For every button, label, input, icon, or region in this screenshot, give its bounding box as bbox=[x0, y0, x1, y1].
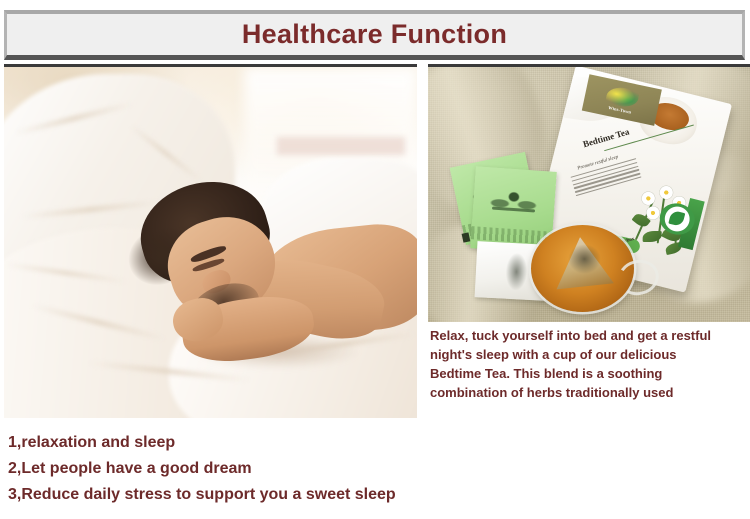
header-banner: Healthcare Function bbox=[4, 10, 745, 60]
sachet-emblem bbox=[487, 185, 541, 221]
sleeping-man-photo bbox=[4, 64, 417, 418]
page-title: Healthcare Function bbox=[242, 21, 507, 48]
bed-scene bbox=[4, 67, 417, 418]
window-sill bbox=[277, 137, 405, 155]
tea-scene: Wins-Town Bedtime Tea Promote restful sl… bbox=[428, 67, 750, 322]
description-line: combination of herbs traditionally used bbox=[430, 383, 746, 402]
benefit-item-2: 2,Let people have a good dream bbox=[8, 456, 608, 482]
box-product-title: Bedtime Tea bbox=[582, 127, 631, 150]
bedtime-tea-product-photo: Wins-Town Bedtime Tea Promote restful sl… bbox=[428, 64, 750, 322]
benefit-item-3: 3,Reduce daily stress to support you a s… bbox=[8, 482, 608, 508]
description-line: Relax, tuck yourself into bed and get a … bbox=[430, 326, 746, 345]
leaf bbox=[643, 231, 662, 242]
tea-leaves bbox=[568, 244, 601, 273]
sachet-corner-tab bbox=[461, 232, 470, 242]
glass-tea-cup bbox=[531, 225, 634, 312]
description-line: night's sleep with a cup of our deliciou… bbox=[430, 345, 746, 364]
description-line: Bedtime Tea. This blend is a soothing bbox=[430, 364, 746, 383]
chamomile-flower bbox=[659, 185, 675, 201]
benefits-list: 1,relaxation and sleep 2,Let people have… bbox=[8, 430, 608, 508]
brand-name: Wins-Town bbox=[608, 105, 632, 115]
chamomile-flower bbox=[640, 191, 656, 207]
product-description: Relax, tuck yourself into bed and get a … bbox=[430, 326, 746, 402]
benefit-item-1: 1,relaxation and sleep bbox=[8, 430, 608, 456]
